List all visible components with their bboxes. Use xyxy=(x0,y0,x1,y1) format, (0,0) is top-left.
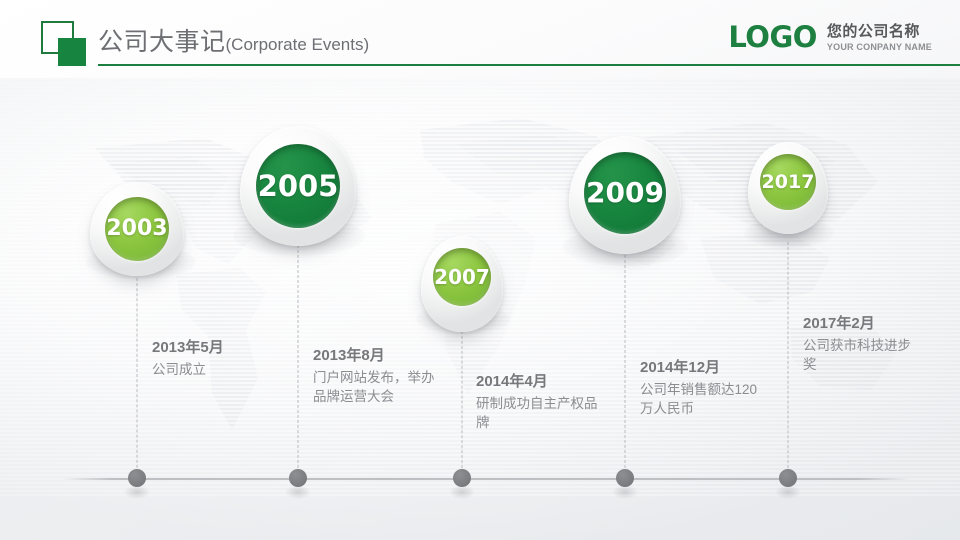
map-pin-5[interactable]: 2017 xyxy=(748,142,828,234)
page-title-en: (Corporate Events) xyxy=(226,35,370,54)
pin-core-4: 2009 xyxy=(584,152,666,234)
milestone-date-2: 2013年8月 xyxy=(313,346,441,366)
square-logo-icon xyxy=(38,21,90,69)
timeline-stem-1 xyxy=(137,268,138,478)
brand-name-block: 您的公司名称 YOUR CONPANY NAME xyxy=(827,22,932,53)
map-pin-1[interactable]: 2003 xyxy=(90,182,184,276)
timeline-stem-4 xyxy=(625,250,626,478)
milestone-desc-1: 公司成立 xyxy=(152,360,292,379)
map-pin-4[interactable]: 2009 xyxy=(569,136,681,254)
milestone-desc-5: 公司获市科技进步奖 xyxy=(803,336,921,374)
map-pin-2[interactable]: 2005 xyxy=(240,126,356,246)
pin-body-3: 2007 xyxy=(421,236,503,332)
timeline-stem-5 xyxy=(788,242,789,478)
pin-body-5: 2017 xyxy=(748,142,828,234)
milestone-caption-1: 2013年5月 公司成立 xyxy=(152,338,292,379)
milestone-desc-2: 门户网站发布，举办品牌运营大会 xyxy=(313,368,441,406)
milestone-caption-5: 2017年2月 公司获市科技进步奖 xyxy=(803,314,921,374)
pin-body-4: 2009 xyxy=(569,136,681,254)
milestone-caption-3: 2014年4月 研制成功自主产权品牌 xyxy=(476,372,606,432)
pin-core-5: 2017 xyxy=(760,154,816,210)
milestone-date-5: 2017年2月 xyxy=(803,314,921,334)
pin-year-label-5: 2017 xyxy=(762,173,815,192)
page-title-cn: 公司大事记 xyxy=(98,28,226,56)
brand-logo-text: LOGO xyxy=(728,22,817,53)
pin-core-1: 2003 xyxy=(105,197,169,261)
pin-body-2: 2005 xyxy=(240,126,356,246)
milestone-desc-3: 研制成功自主产权品牌 xyxy=(476,394,606,432)
milestone-date-3: 2014年4月 xyxy=(476,372,606,392)
page-title: 公司大事记(Corporate Events) xyxy=(98,22,369,58)
timeline-stem-3 xyxy=(462,326,463,478)
milestone-caption-4: 2014年12月 公司年销售额达120万人民币 xyxy=(640,358,770,418)
milestone-caption-2: 2013年8月 门户网站发布，举办品牌运营大会 xyxy=(313,346,441,406)
pin-core-2: 2005 xyxy=(256,144,340,228)
company-brand: LOGO 您的公司名称 YOUR CONPANY NAME xyxy=(728,22,932,66)
milestone-date-4: 2014年12月 xyxy=(640,358,770,378)
timeline-dot-4[interactable] xyxy=(616,469,634,487)
timeline-dot-1[interactable] xyxy=(128,469,146,487)
logo-filled-square xyxy=(58,38,86,66)
timeline-dot-2[interactable] xyxy=(289,469,307,487)
pin-year-label-3: 2007 xyxy=(434,267,490,287)
milestone-date-1: 2013年5月 xyxy=(152,338,292,358)
brand-name-en: YOUR CONPANY NAME xyxy=(827,41,932,53)
brand-name-cn: 您的公司名称 xyxy=(827,23,932,41)
slide-header: 公司大事记(Corporate Events) LOGO 您的公司名称 YOUR… xyxy=(0,0,960,78)
pin-year-label-1: 2003 xyxy=(106,218,167,240)
timeline-dot-5[interactable] xyxy=(779,469,797,487)
slide-canvas: 公司大事记(Corporate Events) LOGO 您的公司名称 YOUR… xyxy=(0,0,960,540)
milestone-desc-4: 公司年销售额达120万人民币 xyxy=(640,380,770,418)
pin-year-label-2: 2005 xyxy=(258,172,339,201)
timeline-dot-3[interactable] xyxy=(453,469,471,487)
timeline-stem-2 xyxy=(298,240,299,478)
pin-body-1: 2003 xyxy=(90,182,184,276)
pin-year-label-4: 2009 xyxy=(586,179,664,207)
map-pin-3[interactable]: 2007 xyxy=(421,236,503,332)
pin-core-3: 2007 xyxy=(433,248,491,306)
